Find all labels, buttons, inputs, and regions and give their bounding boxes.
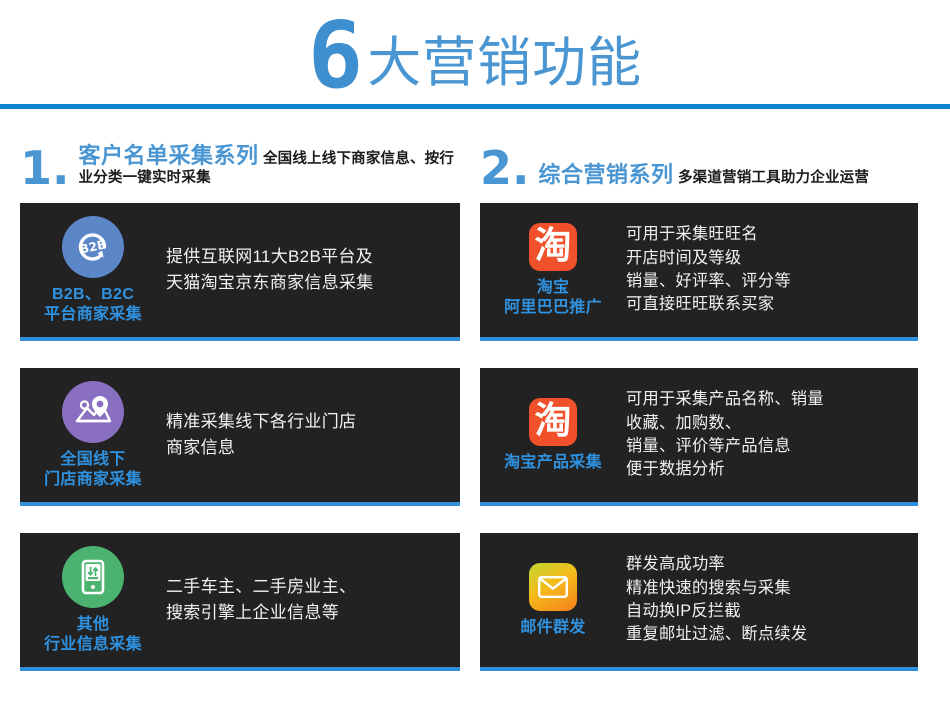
desc-line: 精准快速的搜索与采集 [626, 577, 908, 600]
content-columns: 1. 客户名单采集系列 全国线上线下商家信息、按行业分类一键实时采集 B2B [0, 137, 950, 698]
taobao-glyph: 淘 [535, 227, 572, 264]
desc-line: 可用于采集产品名称、销量 [626, 388, 908, 411]
desc-line: 重复邮址过滤、断点续发 [626, 623, 908, 646]
card-icon-column: B2B B2B、B2C 平台商家采集 [34, 216, 152, 325]
desc-line: 精准采集线下各行业门店 [166, 409, 450, 435]
section-title-1: 客户名单采集系列 [78, 143, 258, 168]
section-text-1: 客户名单采集系列 全国线上线下商家信息、按行业分类一键实时采集 [78, 144, 460, 189]
card-description: 群发高成功率 精准快速的搜索与采集 自动换IP反拦截 重复邮址过滤、断点续发 [612, 553, 908, 647]
desc-line: 提供互联网11大B2B平台及 [166, 244, 450, 270]
card-icon-column: 其他 行业信息采集 [34, 546, 152, 655]
card-label-line1: 全国线下 [60, 451, 125, 468]
mobile-data-circle-icon [62, 546, 124, 608]
desc-line: 商家信息 [166, 435, 450, 461]
desc-line: 天猫淘宝京东商家信息采集 [166, 270, 450, 296]
section-text-2: 综合营销系列 多渠道营销工具助力企业运营 [538, 163, 869, 189]
card-label-line1: 淘宝 [537, 279, 570, 296]
feature-card-other-industry[interactable]: 其他 行业信息采集 二手车主、二手房业主、 搜索引擎上企业信息等 [20, 533, 460, 671]
section-title-2: 综合营销系列 [538, 162, 673, 187]
card-label-line1: 淘宝产品采集 [504, 454, 602, 471]
taobao-icon: 淘 [529, 223, 577, 271]
section-header-2: 2. 综合营销系列 多渠道营销工具助力企业运营 [480, 137, 918, 189]
card-icon-column: 淘 淘宝产品采集 [494, 398, 612, 473]
header-inner: 6 大营销功能 [308, 14, 642, 90]
feature-card-offline-stores[interactable]: 全国线下 门店商家采集 精准采集线下各行业门店 商家信息 [20, 368, 460, 506]
section-column-2: 2. 综合营销系列 多渠道营销工具助力企业运营 淘 淘宝 阿里巴巴推 [475, 137, 950, 698]
card-label-line1: 其他 [77, 616, 110, 633]
page-title: 大营销功能 [367, 36, 642, 90]
section-header-1: 1. 客户名单采集系列 全国线上线下商家信息、按行业分类一键实时采集 [20, 137, 460, 189]
card-label: 其他 行业信息采集 [44, 615, 142, 655]
card-label-line2: 门店商家采集 [44, 470, 142, 490]
desc-line: 销量、好评率、评分等 [626, 270, 908, 293]
b2b-circle-icon: B2B [62, 216, 124, 278]
desc-line: 可直接旺旺联系买家 [626, 293, 908, 316]
desc-line: 群发高成功率 [626, 553, 908, 576]
card-label-line1: B2B、B2C [52, 286, 134, 303]
desc-line: 自动换IP反拦截 [626, 600, 908, 623]
section-number-1: 1. [20, 149, 69, 189]
feature-card-b2b[interactable]: B2B B2B、B2C 平台商家采集 提供互联网11大B2B平台及 天猫淘宝京东… [20, 203, 460, 341]
poster-root: 6 大营销功能 1. 客户名单采集系列 全国线上线下商家信息、按行业分类一键实时… [0, 0, 950, 718]
card-label-line2: 行业信息采集 [44, 635, 142, 655]
card-label: B2B、B2C 平台商家采集 [44, 285, 142, 325]
card-label-line1: 邮件群发 [520, 619, 585, 636]
feature-card-taobao-products[interactable]: 淘 淘宝产品采集 可用于采集产品名称、销量 收藏、加购数、 销量、评价等产品信息… [480, 368, 918, 506]
headline-number: 6 [308, 20, 361, 92]
card-icon-column: 邮件群发 [494, 563, 612, 638]
taobao-icon: 淘 [529, 398, 577, 446]
card-label: 淘宝 阿里巴巴推广 [504, 278, 602, 318]
mail-icon [529, 563, 577, 611]
map-pin-circle-icon [62, 381, 124, 443]
header-divider [0, 104, 950, 109]
card-label-line2: 阿里巴巴推广 [504, 298, 602, 318]
desc-line: 可用于采集旺旺名 [626, 223, 908, 246]
card-description: 精准采集线下各行业门店 商家信息 [152, 409, 450, 461]
card-description: 可用于采集旺旺名 开店时间及等级 销量、好评率、评分等 可直接旺旺联系买家 [612, 223, 908, 317]
section-number-2: 2. [480, 149, 529, 189]
card-description: 二手车主、二手房业主、 搜索引擎上企业信息等 [152, 574, 450, 626]
card-description: 可用于采集产品名称、销量 收藏、加购数、 销量、评价等产品信息 便于数据分析 [612, 388, 908, 482]
card-description: 提供互联网11大B2B平台及 天猫淘宝京东商家信息采集 [152, 244, 450, 296]
card-icon-column: 淘 淘宝 阿里巴巴推广 [494, 223, 612, 318]
card-label: 邮件群发 [520, 618, 585, 638]
card-icon-column: 全国线下 门店商家采集 [34, 381, 152, 490]
card-label-line2: 平台商家采集 [44, 305, 142, 325]
desc-line: 收藏、加购数、 [626, 412, 908, 435]
desc-line: 销量、评价等产品信息 [626, 435, 908, 458]
desc-line: 二手车主、二手房业主、 [166, 574, 450, 600]
section-column-1: 1. 客户名单采集系列 全国线上线下商家信息、按行业分类一键实时采集 B2B [0, 137, 475, 698]
taobao-glyph: 淘 [535, 402, 572, 439]
desc-line: 开店时间及等级 [626, 247, 908, 270]
desc-line: 搜索引擎上企业信息等 [166, 600, 450, 626]
feature-card-taobao-alibaba[interactable]: 淘 淘宝 阿里巴巴推广 可用于采集旺旺名 开店时间及等级 销量、好评率、评分等 … [480, 203, 918, 341]
desc-line: 便于数据分析 [626, 458, 908, 481]
card-label: 全国线下 门店商家采集 [44, 450, 142, 490]
feature-card-mass-mail[interactable]: 邮件群发 群发高成功率 精准快速的搜索与采集 自动换IP反拦截 重复邮址过滤、断… [480, 533, 918, 671]
card-label: 淘宝产品采集 [504, 453, 602, 473]
section-subtitle-2: 多渠道营销工具助力企业运营 [678, 170, 869, 186]
page-header: 6 大营销功能 [0, 0, 950, 104]
